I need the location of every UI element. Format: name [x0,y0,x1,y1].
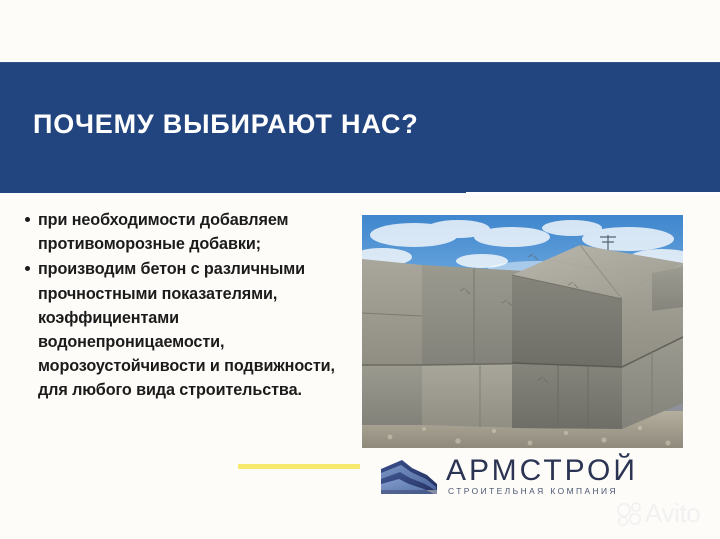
content-area: при необходимости добавляем противомороз… [0,193,720,539]
benefits-list: при необходимости добавляем противомороз… [20,208,358,404]
bullet-icon [25,266,30,271]
list-item-label: при необходимости добавляем противомороз… [38,211,288,253]
building-mark-icon [378,457,440,497]
bullet-icon [25,217,30,222]
avito-wordmark: Avito [645,497,700,529]
logo-company-name: АРМСТРОЙ [446,453,638,489]
header-banner: ПОЧЕМУ ВЫБИРАЮТ НАС? [0,62,720,193]
list-item: при необходимости добавляем противомороз… [20,208,358,256]
company-logo: АРМСТРОЙ СТРОИТЕЛЬНАЯ КОМПАНИЯ [378,453,646,501]
product-photo [362,215,683,448]
concrete-blocks-photo-illustration [362,215,683,448]
slide-canvas: ПОЧЕМУ ВЫБИРАЮТ НАС? при необходимости д… [0,0,720,539]
page-title: ПОЧЕМУ ВЫБИРАЮТ НАС? [33,108,419,140]
logo-tagline: СТРОИТЕЛЬНАЯ КОМПАНИЯ [448,486,618,496]
list-item-label: производим бетон с различными прочностны… [38,260,335,399]
avito-watermark: Avito [617,498,713,530]
avito-dots-icon [617,502,643,526]
list-item: производим бетон с различными прочностны… [20,257,358,402]
accent-rule-decoration [238,464,360,469]
